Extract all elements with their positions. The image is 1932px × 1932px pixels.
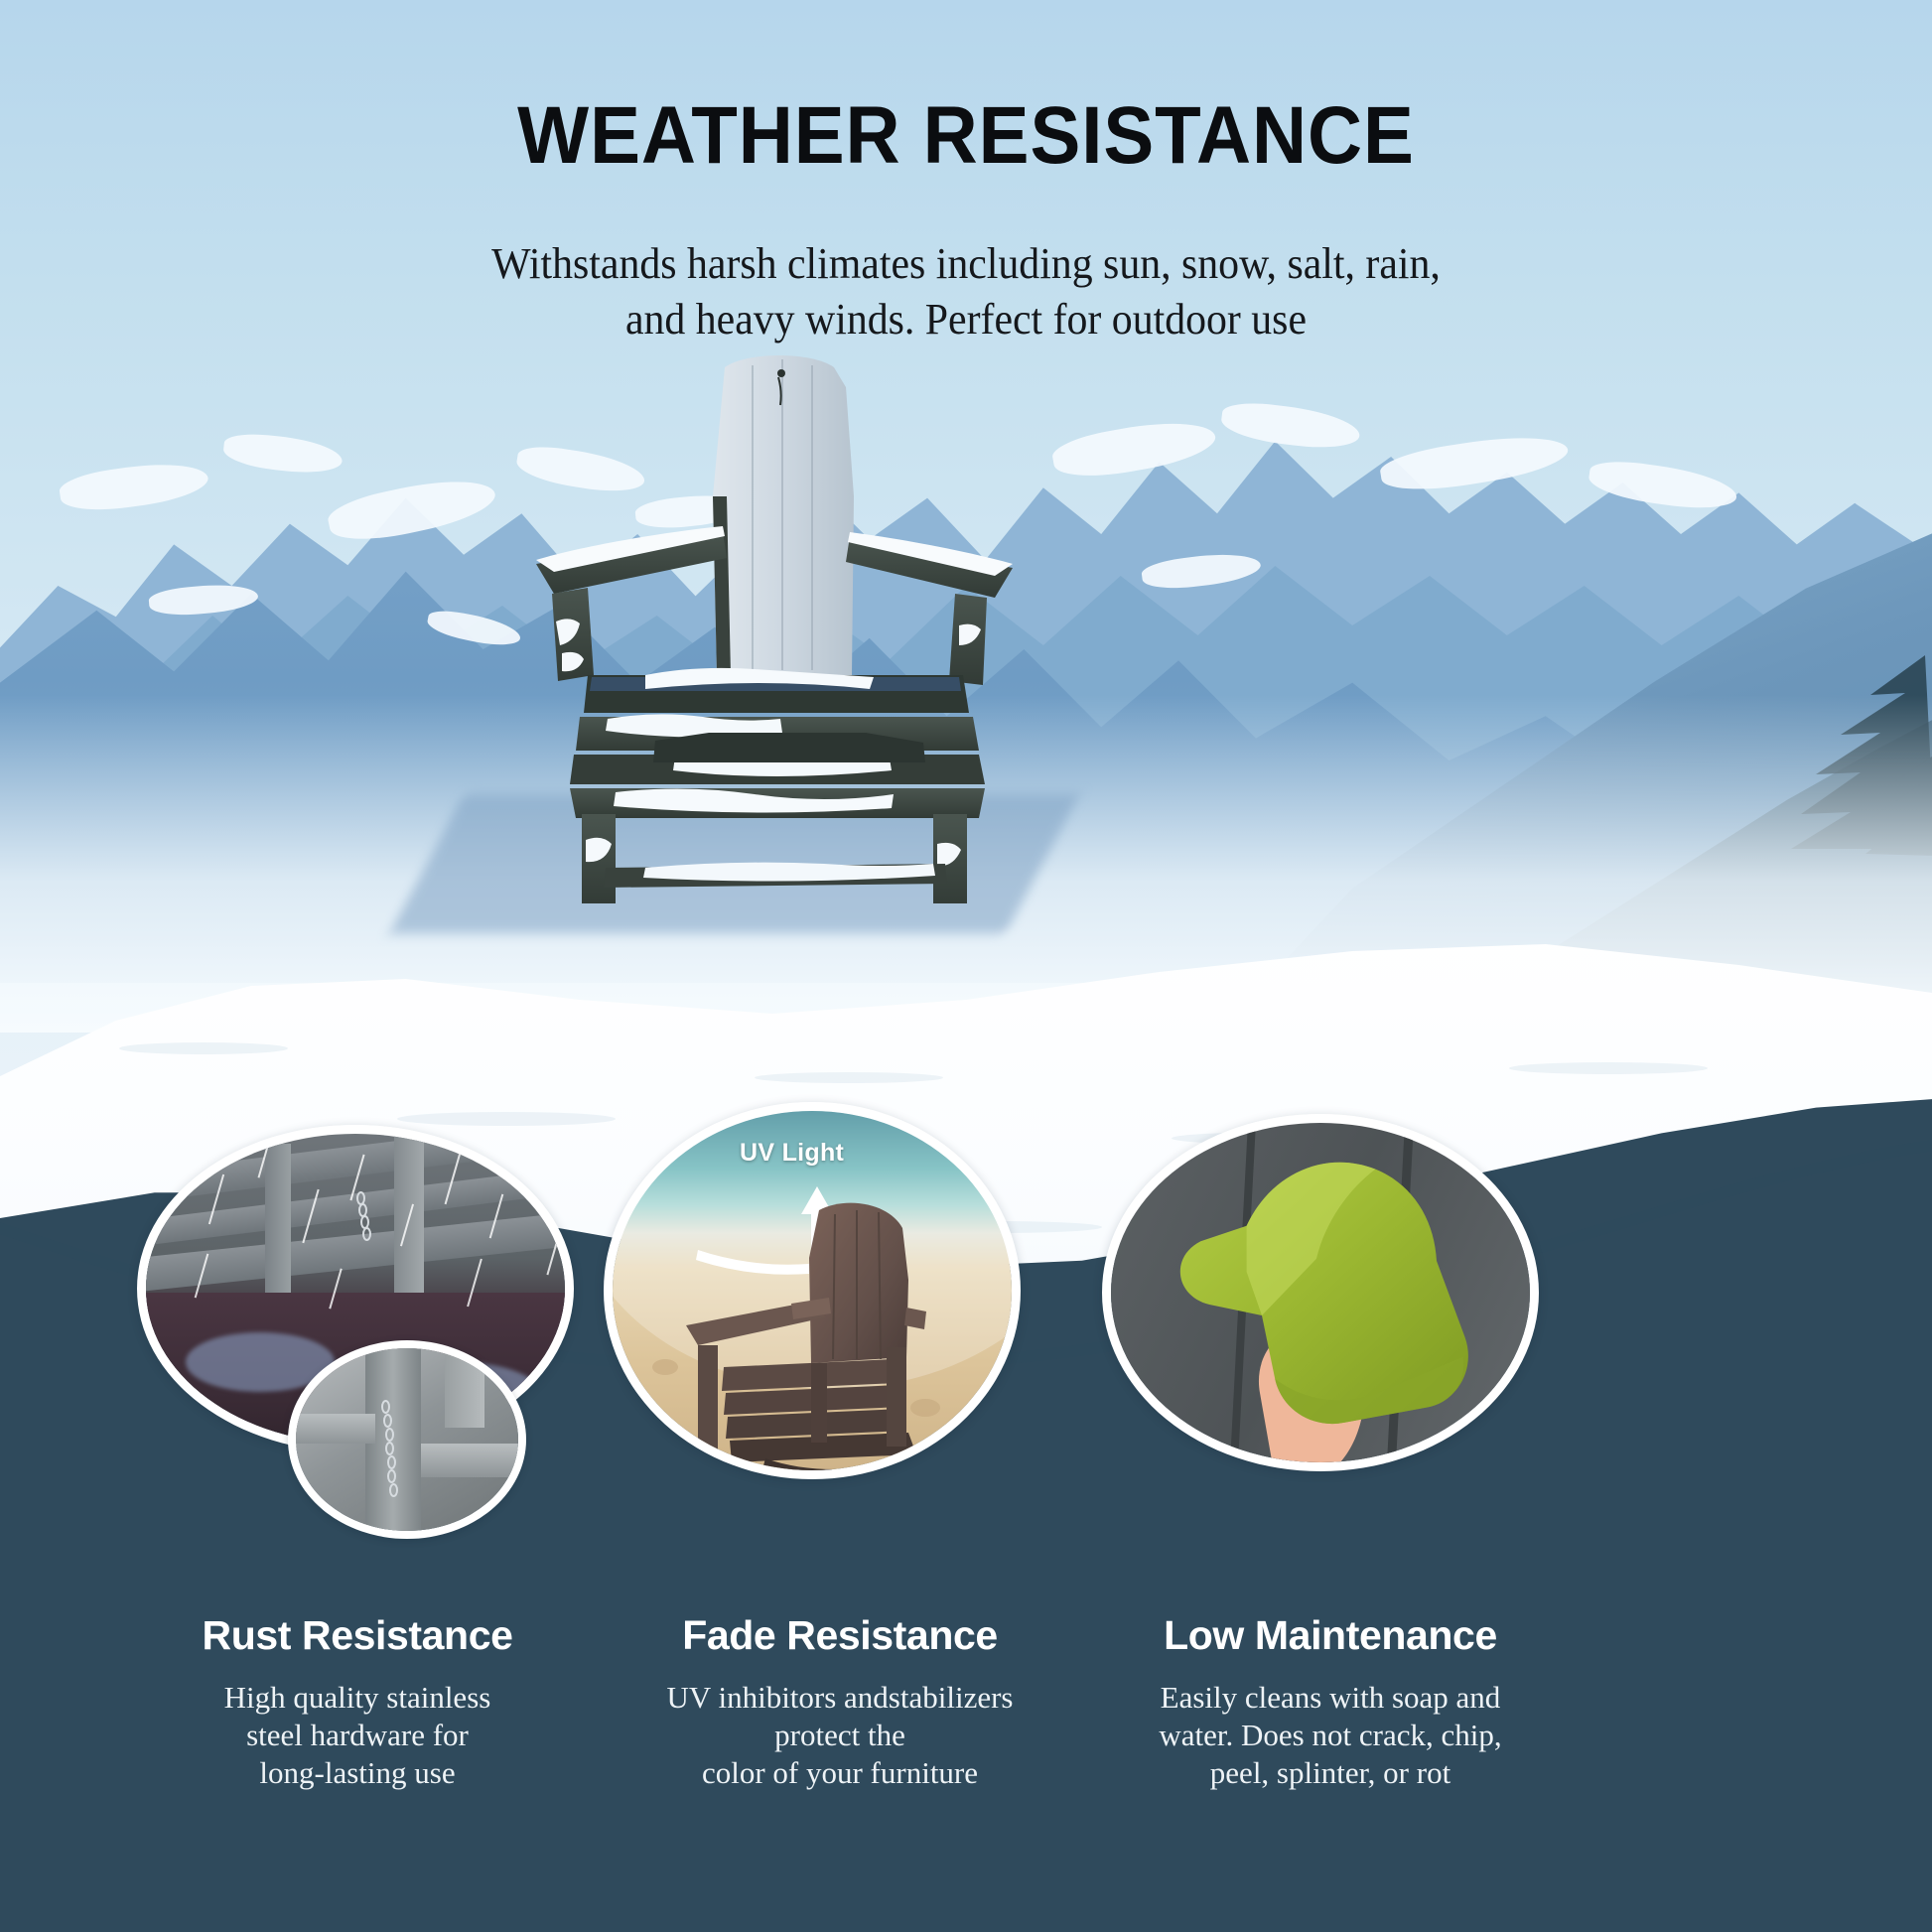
feature-desc-line: peel, splinter, or rot xyxy=(1023,1754,1638,1792)
microfiber-cloth-icon xyxy=(1139,1141,1516,1468)
snow-cap xyxy=(1378,427,1571,497)
feature-desc-line: water. Does not crack, chip, xyxy=(1023,1717,1638,1754)
snow-cap xyxy=(222,431,345,477)
snow-cap xyxy=(58,457,210,516)
beach-adirondack-chair xyxy=(660,1188,978,1479)
chain-link-icon xyxy=(362,1227,371,1241)
feature-column-low-maintenance: Low Maintenance Easily cleans with soap … xyxy=(1023,1612,1638,1791)
feature-image-rust-hardware-closeup xyxy=(288,1340,526,1539)
feature-image-fade-resistance: UV Light xyxy=(604,1102,1021,1479)
chain-link-icon xyxy=(385,1428,394,1442)
feature-title: Low Maintenance xyxy=(1023,1612,1638,1659)
page-subtitle: Withstands harsh climates including sun,… xyxy=(49,236,1884,348)
chain-link-icon xyxy=(387,1469,396,1483)
subtitle-line: and heavy winds. Perfect for outdoor use xyxy=(49,292,1884,347)
chain-link-icon xyxy=(387,1455,396,1469)
feature-desc-line: Easily cleans with soap and xyxy=(1023,1679,1638,1717)
snow-covered-adirondack-chair xyxy=(496,347,1052,903)
uv-light-label: UV Light xyxy=(740,1139,844,1168)
feature-description: Easily cleans with soap and water. Does … xyxy=(1023,1679,1638,1791)
feature-image-low-maintenance xyxy=(1102,1114,1539,1471)
snow-cap xyxy=(1049,413,1218,484)
subtitle-line: Withstands harsh climates including sun,… xyxy=(49,236,1884,292)
page-title: WEATHER RESISTANCE xyxy=(68,89,1864,183)
chain-link-icon xyxy=(385,1442,394,1455)
chain-link-icon xyxy=(383,1414,392,1428)
chain-link-icon xyxy=(381,1400,390,1414)
chain-link-icon xyxy=(389,1483,398,1497)
snow-cap xyxy=(1219,399,1362,454)
infographic-canvas: UV Light xyxy=(0,0,1932,1932)
